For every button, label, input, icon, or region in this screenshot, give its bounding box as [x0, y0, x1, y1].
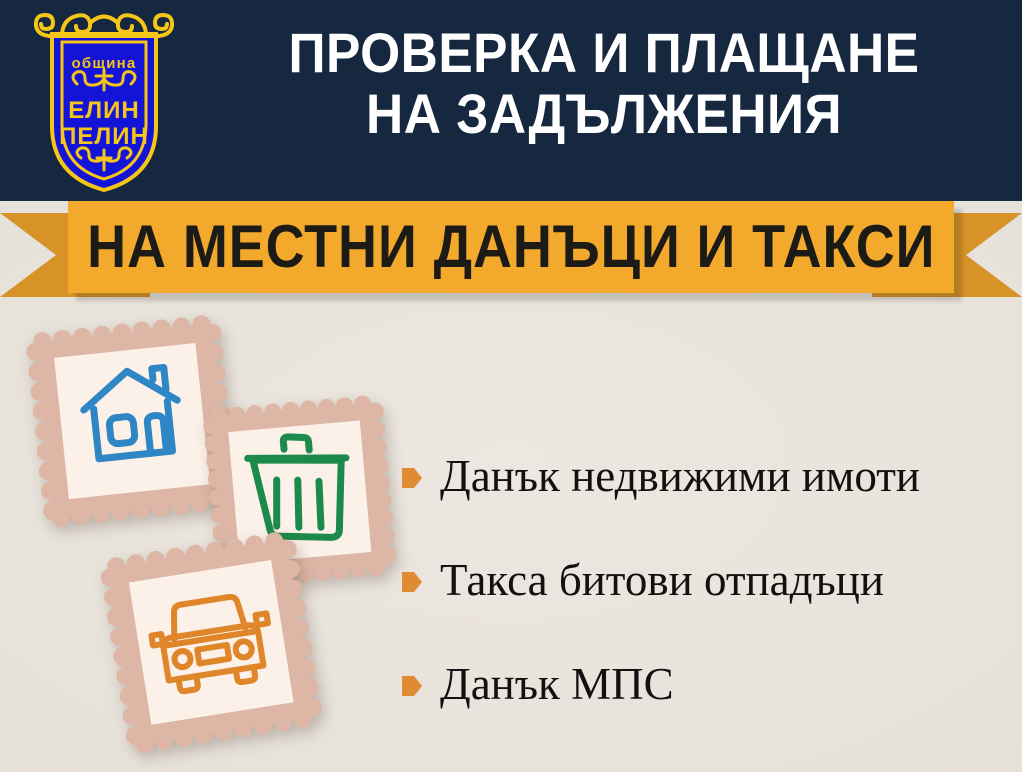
- arrow-bullet-icon: [402, 571, 422, 593]
- coat-of-arms-shield-icon: община ЕЛИН ПЕЛИН: [24, 6, 184, 194]
- list-item-label: Данък МПС: [440, 659, 674, 709]
- list-item[interactable]: Такса битови отпадъци: [402, 528, 1012, 632]
- page-title-line-1: ПРОВЕРКА И ПЛАЩАНЕ: [229, 22, 980, 83]
- subtitle-ribbon: НА МЕСТНИ ДАНЪЦИ И ТАКСИ: [0, 197, 1022, 307]
- crest-name-line-1: ЕЛИН: [68, 97, 139, 124]
- list-item[interactable]: Данък МПС: [402, 632, 1012, 736]
- page-title-line-2: НА ЗАДЪЛЖЕНИЯ: [229, 83, 980, 144]
- page-title: ПРОВЕРКА И ПЛАЩАНЕ НА ЗАДЪЛЖЕНИЯ: [196, 22, 1012, 144]
- poster-root: община ЕЛИН ПЕЛИН: [0, 0, 1022, 772]
- header-bar: община ЕЛИН ПЕЛИН: [0, 0, 1022, 201]
- stamp-card-vehicle: [96, 528, 332, 766]
- crest-name-line-2: ПЕЛИН: [59, 123, 149, 150]
- list-item[interactable]: Данък недвижими имоти: [402, 424, 1012, 528]
- ribbon-label: НА МЕСТНИ ДАНЪЦИ И ТАКСИ: [87, 217, 935, 277]
- arrow-bullet-icon: [402, 675, 422, 697]
- tax-type-list: Данък недвижими имоти Такса битови отпад…: [402, 424, 1012, 736]
- list-item-label: Такса битови отпадъци: [440, 555, 884, 605]
- arrow-bullet-icon: [402, 467, 422, 489]
- ribbon-banner: НА МЕСТНИ ДАНЪЦИ И ТАКСИ: [68, 201, 954, 293]
- list-item-label: Данък недвижими имоти: [440, 451, 920, 501]
